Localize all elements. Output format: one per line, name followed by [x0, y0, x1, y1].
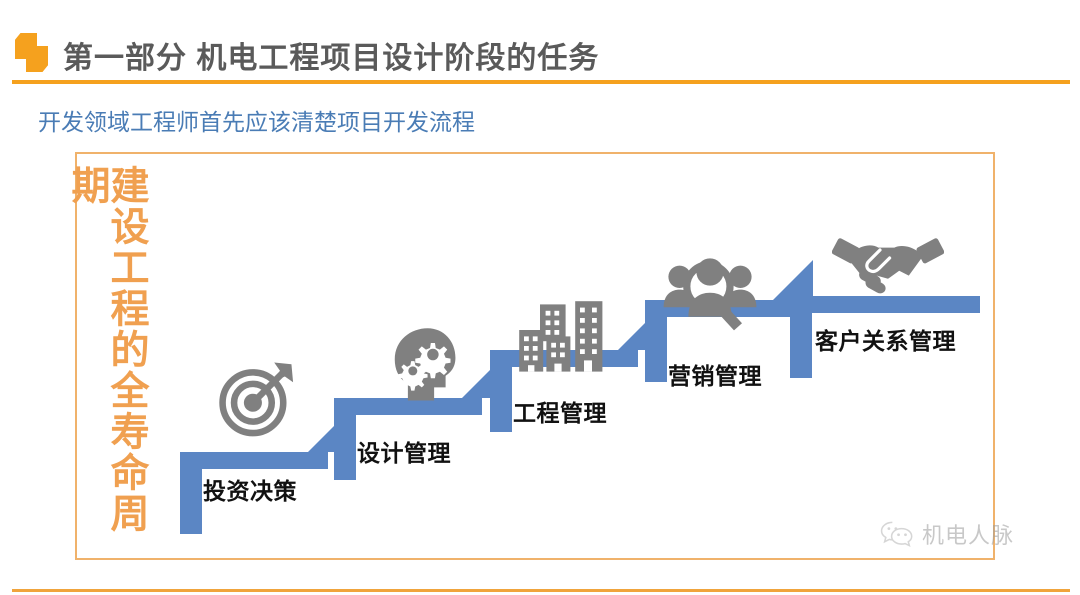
step-5-top-bar: [790, 296, 980, 313]
wechat-logo-icon: [880, 520, 914, 548]
footer-divider: [12, 589, 1070, 592]
step-5-left-leg: [790, 296, 812, 378]
step-3-left-leg: [490, 350, 512, 432]
step-2-left-leg: [334, 398, 356, 480]
watermark: 机电人脉: [880, 518, 1014, 550]
slide-canvas: 第一部分 机电工程项目设计阶段的任务 开发领域工程师首先应该清楚项目开发流程 建…: [0, 0, 1080, 595]
hexagon-bullet-icon-part-bottom: [26, 46, 48, 72]
head-with-gears-icon: [380, 325, 462, 407]
page-title: 第一部分 机电工程项目设计阶段的任务: [63, 33, 599, 77]
watermark-text: 机电人脉: [922, 518, 1014, 550]
header-divider: [12, 80, 1070, 84]
target-bullseye-arrow-icon: [216, 356, 298, 438]
step-5-label: 客户关系管理: [815, 322, 956, 356]
step-1-label: 投资决策: [203, 472, 297, 506]
city-buildings-icon: [516, 296, 612, 380]
slide-subtitle: 开发领域工程师首先应该清楚项目开发流程: [38, 103, 475, 137]
people-magnifier-icon: [662, 254, 758, 338]
step-2-label: 设计管理: [357, 434, 451, 468]
handshake-icon: [832, 226, 944, 298]
lifecycle-vertical-label: 建设工程的全寿命周期: [88, 165, 146, 545]
step-3-label: 工程管理: [513, 394, 607, 428]
hexagon-bullet-icon: [15, 33, 49, 73]
step-4-label: 营销管理: [668, 357, 762, 391]
step-1-top-bar: [180, 452, 328, 469]
step-1-left-leg: [180, 452, 202, 534]
